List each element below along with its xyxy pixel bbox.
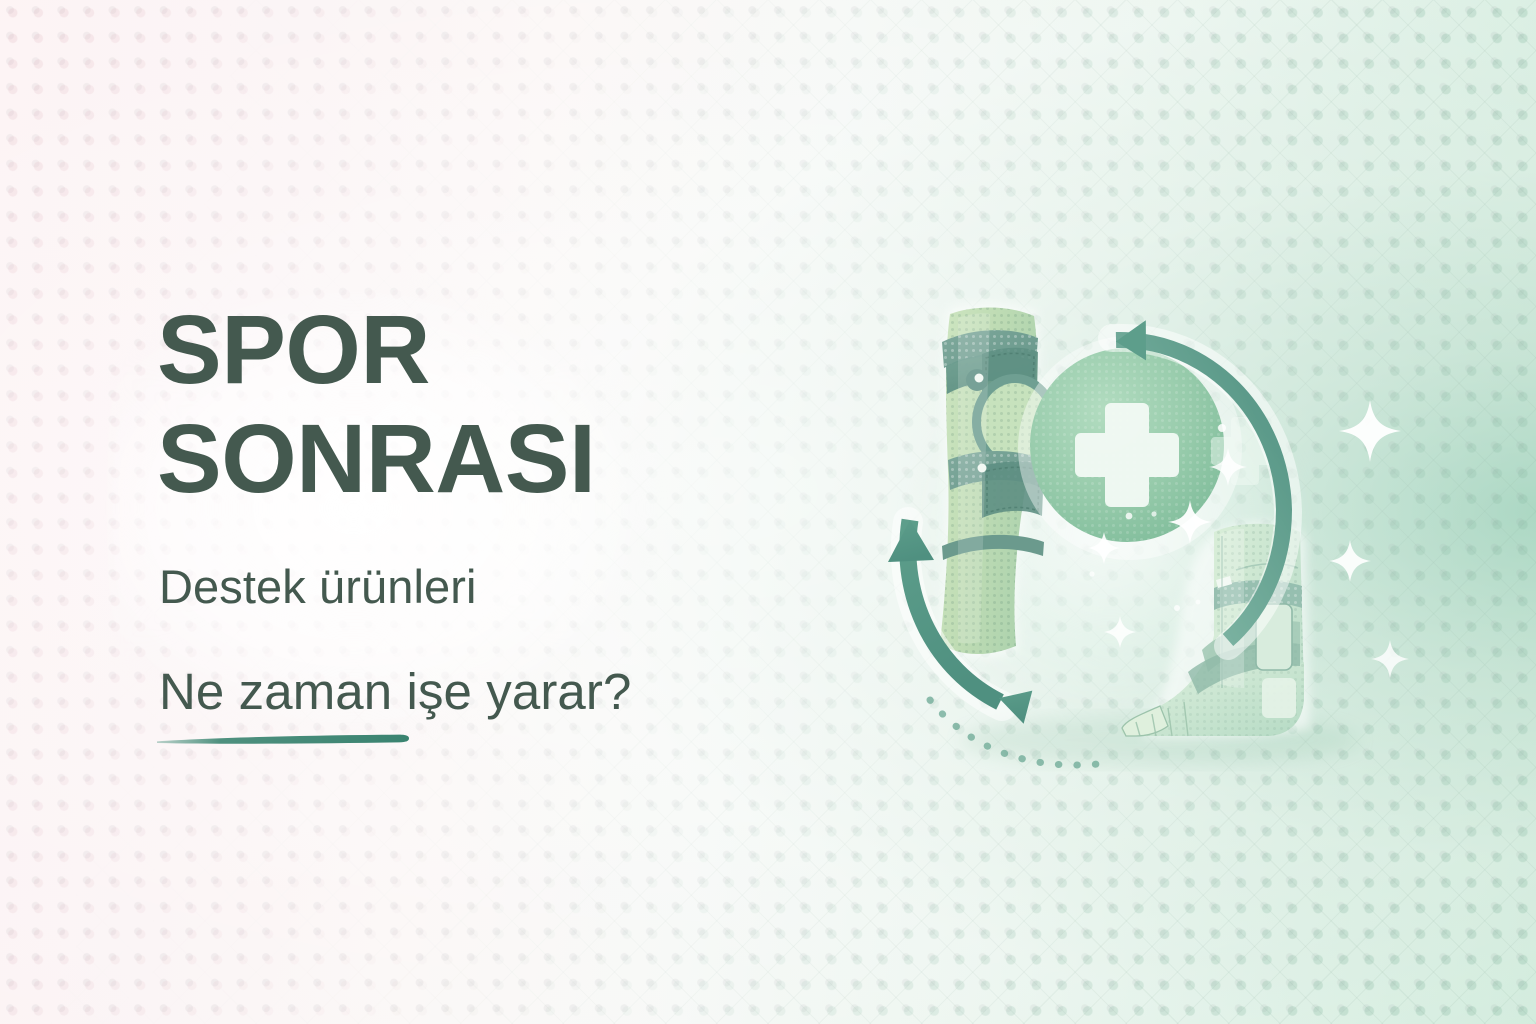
headline-line-1: SPOR: [157, 295, 430, 404]
text-block: SPOR SONRASI Destek ürünleri Ne zaman iş…: [157, 296, 797, 721]
headline-line-2: SONRASI: [157, 405, 797, 514]
subheading: Destek ürünleri: [159, 559, 797, 614]
illustration-group: [830, 270, 1410, 830]
poster-canvas: SPOR SONRASI Destek ürünleri Ne zaman iş…: [0, 0, 1536, 1024]
question-line: Ne zaman işe yarar?: [159, 662, 797, 721]
page-title: SPOR SONRASI: [157, 296, 797, 513]
brush-underline-accent: [155, 726, 411, 752]
